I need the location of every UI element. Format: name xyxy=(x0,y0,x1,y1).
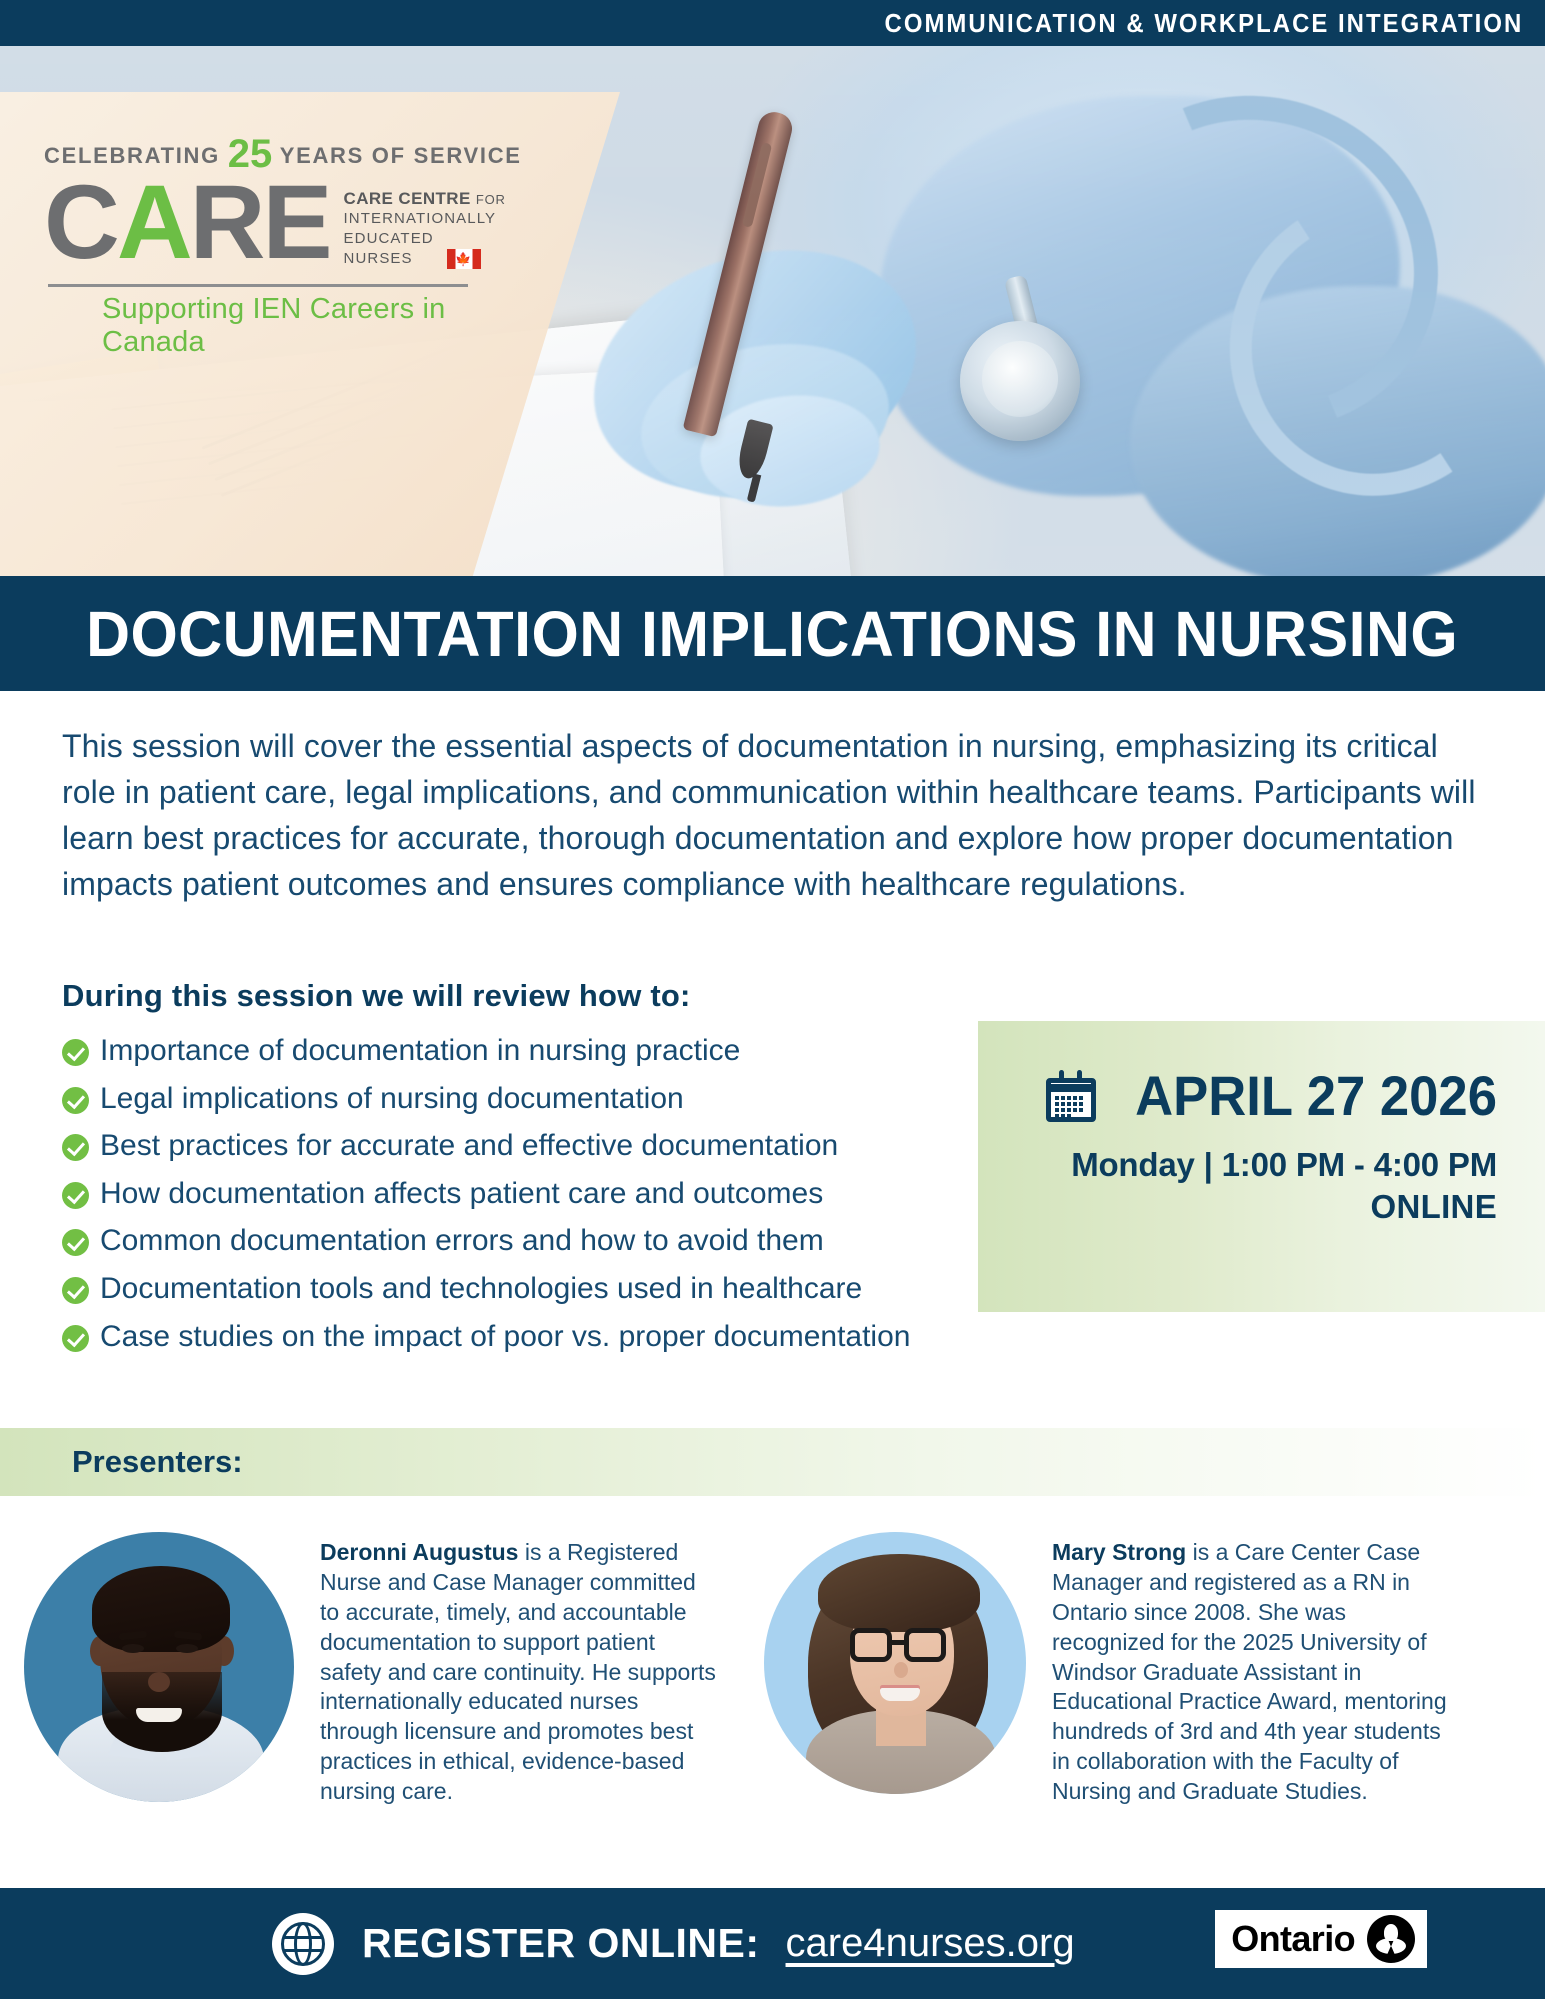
event-time: Monday | 1:00 PM - 4:00 PM xyxy=(978,1146,1497,1184)
check-circle-icon xyxy=(62,1087,89,1114)
agenda-heading: During this session we will review how t… xyxy=(62,978,691,1014)
event-mode: ONLINE xyxy=(978,1188,1497,1226)
poster: COMMUNICATION & WORKPLACE INTEGRATION xyxy=(0,0,1545,1999)
check-circle-icon xyxy=(62,1134,89,1161)
presenter-name: Mary Strong xyxy=(1052,1539,1186,1565)
wordmark-c: C xyxy=(44,164,117,281)
presenter-bio: Deronni Augustus is a Registered Nurse a… xyxy=(320,1532,720,1807)
list-item: How documentation affects patient care a… xyxy=(62,1177,982,1211)
page-title: DOCUMENTATION IMPLICATIONS IN NURSING xyxy=(86,597,1458,671)
presenter-bio-text: is a Care Center Case Manager and regist… xyxy=(1052,1539,1447,1804)
list-item: Documentation tools and technologies use… xyxy=(62,1272,982,1306)
wordmark-re: RE xyxy=(190,164,330,281)
subtitle-line4: NURSES xyxy=(344,249,413,269)
avatar xyxy=(24,1532,294,1802)
subtitle-line3: EDUCATED xyxy=(344,229,506,249)
event-details-box: APRIL 27 2026 Monday | 1:00 PM - 4:00 PM… xyxy=(978,1021,1545,1312)
list-item-label: Documentation tools and technologies use… xyxy=(100,1272,862,1306)
avatar xyxy=(764,1532,1026,1794)
presenter-card: Deronni Augustus is a Registered Nurse a… xyxy=(24,1532,744,1807)
title-band: DOCUMENTATION IMPLICATIONS IN NURSING xyxy=(0,576,1545,691)
logo-divider xyxy=(48,284,468,287)
care-subtitle: CARE CENTRE FOR INTERNATIONALLY EDUCATED… xyxy=(344,175,506,269)
care-wordmark: CARE xyxy=(44,175,330,272)
list-item-label: Case studies on the impact of poor vs. p… xyxy=(100,1320,910,1354)
check-circle-icon xyxy=(62,1182,89,1209)
list-item: Legal implications of nursing documentat… xyxy=(62,1082,982,1116)
globe-icon xyxy=(272,1913,334,1975)
check-circle-icon xyxy=(62,1325,89,1352)
agenda-list: Importance of documentation in nursing p… xyxy=(62,1034,982,1367)
ontario-label: Ontario xyxy=(1231,1918,1355,1960)
subtitle-for: FOR xyxy=(476,192,506,207)
list-item: Common documentation errors and how to a… xyxy=(62,1224,982,1258)
list-item-label: Importance of documentation in nursing p… xyxy=(100,1034,740,1068)
subtitle-line2: INTERNATIONALLY xyxy=(344,209,506,229)
list-item: Best practices for accurate and effectiv… xyxy=(62,1129,982,1163)
event-date: APRIL 27 2026 xyxy=(1135,1063,1497,1128)
check-circle-icon xyxy=(62,1229,89,1256)
ontario-logo: Ontario xyxy=(1215,1910,1427,1968)
trillium-icon xyxy=(1367,1915,1415,1963)
check-circle-icon xyxy=(62,1277,89,1304)
presenters-band: Presenters: xyxy=(0,1428,1545,1496)
list-item-label: Common documentation errors and how to a… xyxy=(100,1224,824,1258)
subtitle-strong: CARE CENTRE xyxy=(344,189,471,208)
top-category-bar: COMMUNICATION & WORKPLACE INTEGRATION xyxy=(0,0,1545,46)
register-url-link[interactable]: care4nurses.org xyxy=(786,1921,1075,1966)
register-label: REGISTER ONLINE: xyxy=(362,1920,760,1967)
intro-paragraph: This session will cover the essential as… xyxy=(62,723,1482,907)
calendar-icon xyxy=(1046,1070,1096,1122)
presenters-heading: Presenters: xyxy=(72,1444,243,1480)
presenter-bio: Mary Strong is a Care Center Case Manage… xyxy=(1052,1532,1452,1807)
presenter-name: Deronni Augustus xyxy=(320,1539,518,1565)
logo-tagline: Supporting IEN Careers in Canada xyxy=(102,293,514,359)
care-logo: CELEBRATING 25 YEARS OF SERVICE CARE CAR… xyxy=(44,132,514,359)
footer-bar: REGISTER ONLINE: care4nurses.org Ontario xyxy=(0,1888,1545,1999)
list-item-label: Legal implications of nursing documentat… xyxy=(100,1082,684,1116)
canada-flag-icon xyxy=(447,249,481,269)
hero-image: CELEBRATING 25 YEARS OF SERVICE CARE CAR… xyxy=(0,46,1545,576)
check-circle-icon xyxy=(62,1039,89,1066)
category-label: COMMUNICATION & WORKPLACE INTEGRATION xyxy=(884,8,1523,39)
list-item: Importance of documentation in nursing p… xyxy=(62,1034,982,1068)
presenter-bio-text: is a Registered Nurse and Case Manager c… xyxy=(320,1539,716,1804)
list-item-label: How documentation affects patient care a… xyxy=(100,1177,823,1211)
list-item-label: Best practices for accurate and effectiv… xyxy=(100,1129,838,1163)
wordmark-a: A xyxy=(117,164,190,281)
presenter-card: Mary Strong is a Care Center Case Manage… xyxy=(764,1532,1504,1807)
list-item: Case studies on the impact of poor vs. p… xyxy=(62,1320,982,1354)
